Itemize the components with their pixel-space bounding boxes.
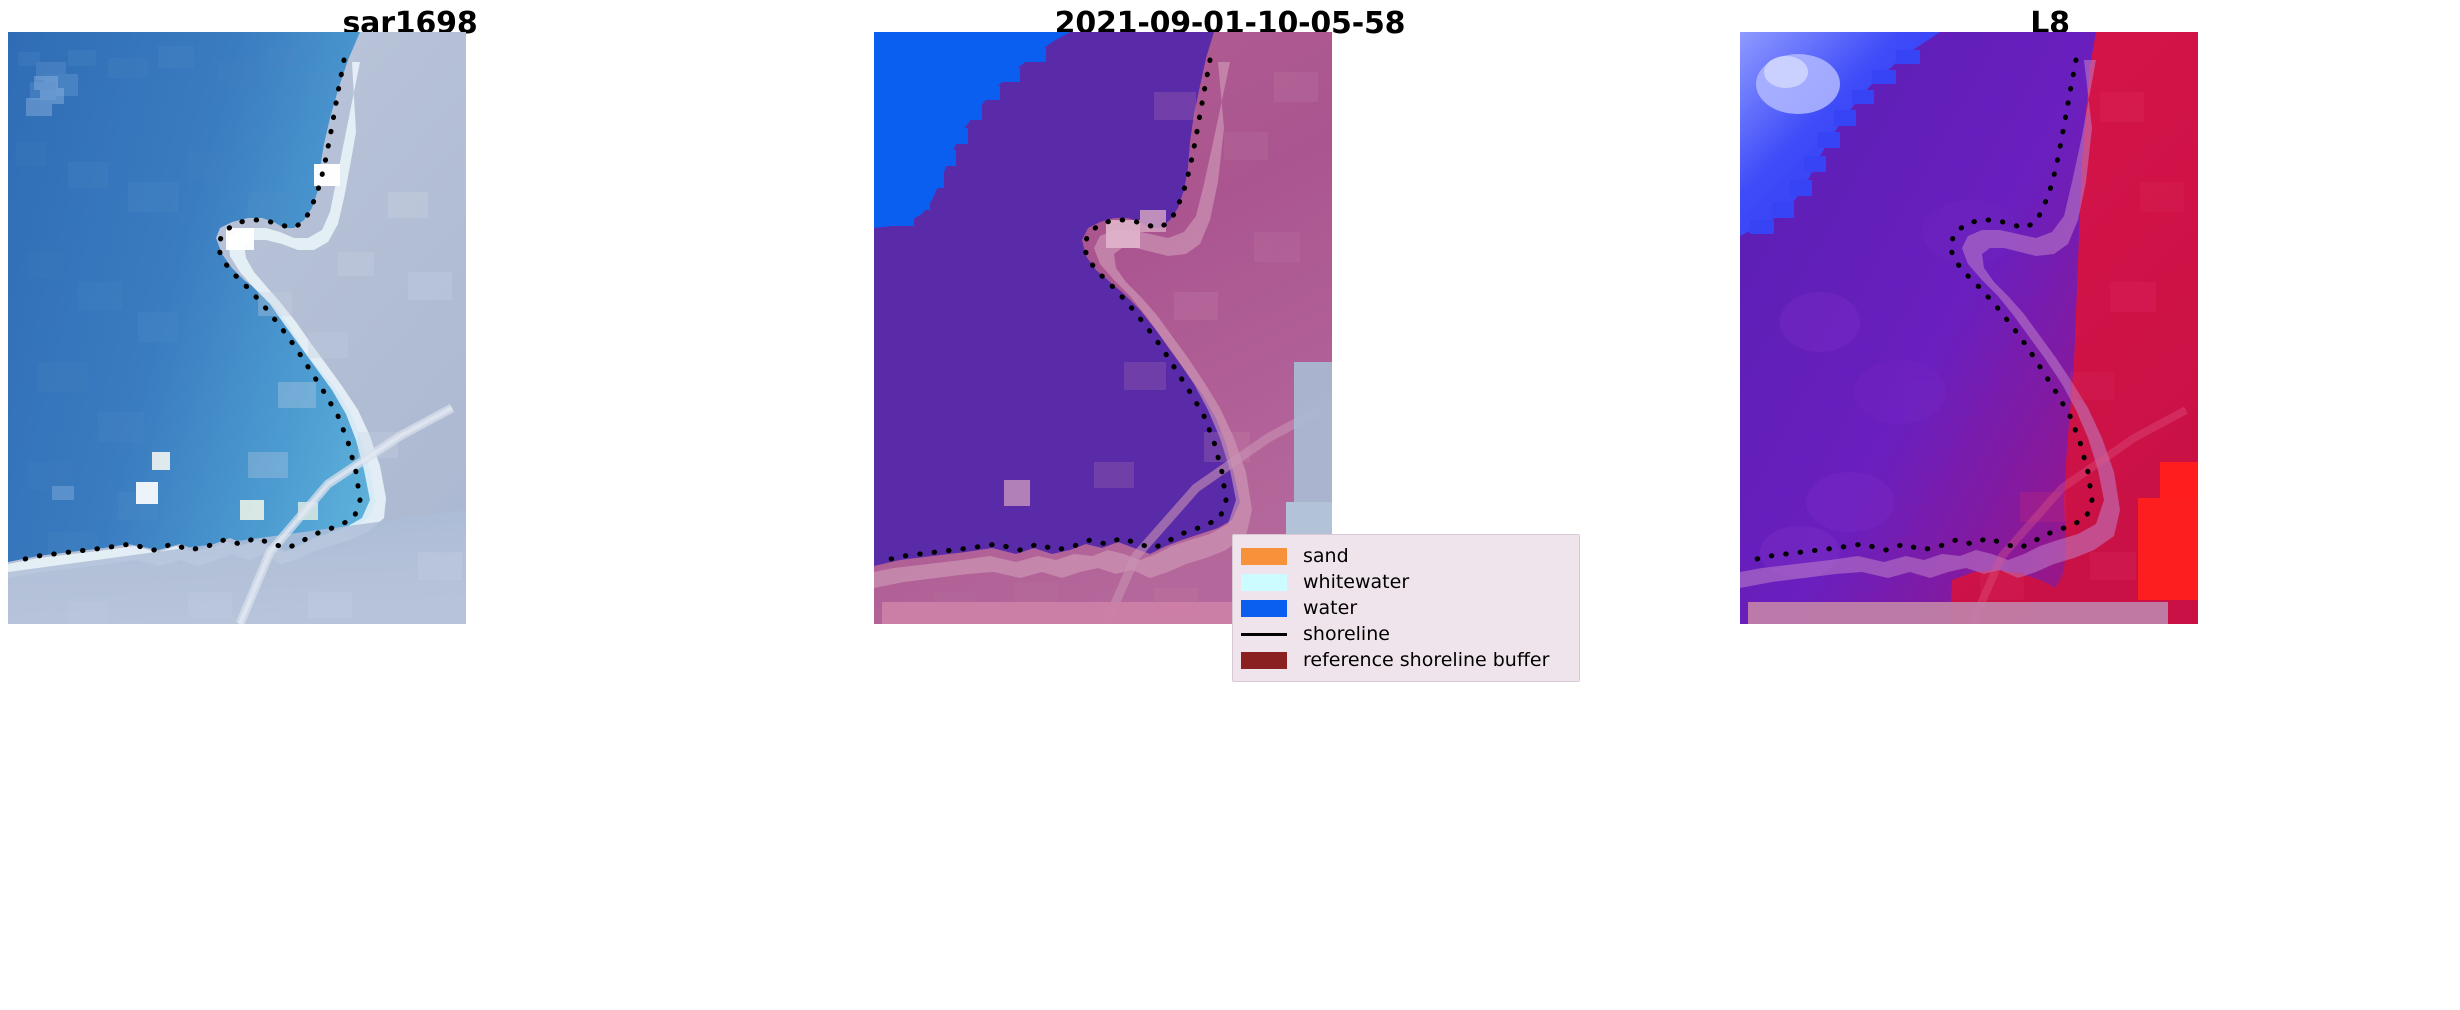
legend-label-water: water	[1303, 597, 1357, 619]
legend-swatch-water	[1241, 600, 1287, 617]
l8-raster	[1740, 32, 2198, 624]
legend-swatch-whitewater	[1241, 574, 1287, 591]
map-legend: sand whitewater water shoreline referenc…	[1232, 534, 1580, 682]
legend-item-whitewater[interactable]: whitewater	[1241, 569, 1569, 595]
legend-item-water[interactable]: water	[1241, 595, 1569, 621]
legend-item-shoreline[interactable]: shoreline	[1241, 621, 1569, 647]
legend-item-sand[interactable]: sand	[1241, 543, 1569, 569]
sar-raster	[8, 32, 466, 624]
axes-l8-image[interactable]	[1740, 32, 2198, 624]
axes-sar-image[interactable]	[8, 32, 466, 624]
legend-label-sand: sand	[1303, 545, 1349, 567]
legend-swatch-sand	[1241, 548, 1287, 565]
figure-canvas: sar1698	[0, 0, 2460, 1010]
legend-label-reference-buffer: reference shoreline buffer	[1303, 649, 1549, 671]
legend-label-whitewater: whitewater	[1303, 571, 1409, 593]
legend-item-reference-buffer[interactable]: reference shoreline buffer	[1241, 647, 1569, 673]
legend-swatch-shoreline-line	[1241, 633, 1287, 636]
legend-swatch-reference-buffer	[1241, 652, 1287, 669]
legend-label-shoreline: shoreline	[1303, 623, 1390, 645]
